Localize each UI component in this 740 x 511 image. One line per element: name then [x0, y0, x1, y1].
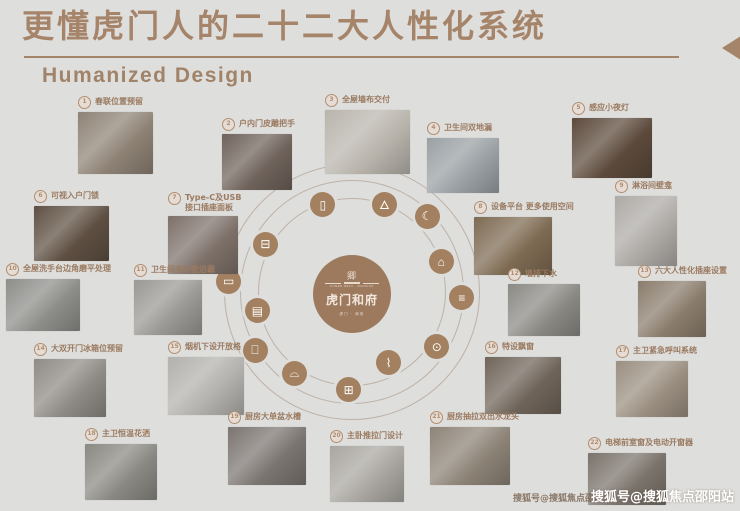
poster-header: 更懂虎门人的二十二大人性化系统 Humanized Design	[22, 6, 722, 46]
feature-number-badge: 1	[78, 96, 91, 109]
feature-number-badge: 9	[615, 180, 628, 193]
feature-photo	[615, 196, 677, 266]
feature-number-badge: 18	[85, 428, 98, 441]
feature-label: 9淋浴间壁龛	[615, 180, 677, 193]
feature-label-text: 可视入户门锁	[51, 190, 99, 201]
feature-label-text: 设备平台 更多使用空间	[491, 201, 574, 212]
feature-label: 20主卧推拉门设计	[330, 430, 404, 443]
feature-card[interactable]: 5感应小夜灯	[572, 102, 652, 178]
window-frame-icon[interactable]: ⊟	[253, 232, 278, 257]
feature-card[interactable]: 21厨房抽拉双出水龙头	[430, 411, 519, 485]
feature-card[interactable]: 1春联位置预留	[78, 96, 153, 174]
logo-crest: 卿	[347, 272, 357, 281]
feature-card[interactable]: 6可视入户门锁	[34, 190, 109, 261]
feature-label-text: 大双开门冰箱位预留	[51, 343, 123, 354]
feature-photo	[485, 357, 561, 414]
feature-label-text: 全屋洗手台边角磨平处理	[23, 263, 111, 274]
feature-photo	[616, 361, 688, 417]
feature-label-text: 卫生间多功能浴霸	[151, 264, 215, 275]
feature-label-text: 主卫恒温花洒	[102, 428, 150, 439]
feature-label-text: 特设飘窗	[502, 341, 534, 352]
feature-label-text: 厨房抽拉双出水龙头	[447, 411, 519, 422]
feature-photo	[508, 284, 580, 336]
feature-label-text: 淋浴间壁龛	[632, 180, 672, 191]
feature-card[interactable]: 13六大人性化插座设置	[638, 265, 727, 337]
feature-label: 13六大人性化插座设置	[638, 265, 727, 278]
feature-number-badge: 3	[325, 94, 338, 107]
feature-photo	[85, 444, 157, 500]
feature-label: 15烟机下设开放格	[168, 341, 244, 354]
feature-label: 21厨房抽拉双出水龙头	[430, 411, 519, 424]
feature-number-badge: 4	[427, 122, 440, 135]
feature-label-text: 卫生间双地漏	[444, 122, 492, 133]
feature-label: 12墙排下水	[508, 268, 580, 281]
feature-card[interactable]: 4卫生间双地漏	[427, 122, 499, 193]
logo-tagline: 虎门 · 和府	[340, 311, 365, 316]
feature-photo	[330, 446, 404, 502]
feature-card[interactable]: 11卫生间多功能浴霸	[134, 264, 215, 335]
feature-label: 4卫生间双地漏	[427, 122, 499, 135]
feature-label: 6可视入户门锁	[34, 190, 109, 203]
feature-label: 17主卫紧急呼叫系统	[616, 345, 697, 358]
feature-number-badge: 16	[485, 341, 498, 354]
logo-chinese: 虎门和府	[326, 291, 378, 308]
page-subtitle: Humanized Design	[42, 64, 254, 88]
feature-number-badge: 6	[34, 190, 47, 203]
feature-number-badge: 19	[228, 411, 241, 424]
feature-photo	[474, 217, 552, 275]
arrow-left-icon	[722, 34, 740, 62]
feature-card[interactable]: 17主卫紧急呼叫系统	[616, 345, 697, 417]
feature-photo	[325, 110, 410, 174]
watermark-main: 搜狐号@搜狐焦点邵阳站	[591, 486, 734, 505]
feature-number-badge: 14	[34, 343, 47, 356]
feature-photo	[34, 206, 109, 261]
feature-photo	[6, 279, 80, 331]
feature-photo	[572, 118, 652, 178]
feature-card[interactable]: 18主卫恒温花洒	[85, 428, 157, 500]
feature-label: 10全屋洗手台边角磨平处理	[6, 263, 111, 276]
feature-card[interactable]: 14大双开门冰箱位预留	[34, 343, 123, 417]
feature-label: 5感应小夜灯	[572, 102, 652, 115]
feature-card[interactable]: 19厨房大单盆水槽	[228, 411, 306, 485]
feature-number-badge: 7	[168, 192, 181, 205]
feature-label-text: Type-C及USB 接口插座面板	[185, 192, 241, 213]
shower-head-icon[interactable]: ⌂	[429, 249, 454, 274]
feature-number-badge: 20	[330, 430, 343, 443]
feature-label: 18主卫恒温花洒	[85, 428, 157, 441]
page-title: 更懂虎门人的二十二大人性化系统	[22, 6, 722, 46]
feature-photo	[638, 281, 706, 337]
feature-card[interactable]: 15烟机下设开放格	[168, 341, 244, 415]
feature-number-badge: 17	[616, 345, 629, 358]
logo-rule	[325, 282, 379, 284]
feature-label: 8设备平台 更多使用空间	[474, 201, 574, 214]
feature-label: 19厨房大单盆水槽	[228, 411, 306, 424]
feature-number-badge: 10	[6, 263, 19, 276]
feature-label-text: 电梯前室窗及电动开窗器	[605, 437, 693, 448]
feature-label-text: 主卧推拉门设计	[347, 430, 403, 441]
feature-number-badge: 12	[508, 268, 521, 281]
feature-card[interactable]: 9淋浴间壁龛	[615, 180, 677, 266]
feature-number-badge: 2	[222, 118, 235, 131]
feature-photo	[78, 112, 153, 174]
feature-number-badge: 13	[638, 265, 651, 278]
feature-label-text: 六大人性化插座设置	[655, 265, 727, 276]
feature-card[interactable]: 20主卧推拉门设计	[330, 430, 404, 502]
feature-label-text: 主卫紧急呼叫系统	[633, 345, 697, 356]
sink-basin-icon[interactable]: ⌓	[282, 361, 307, 386]
feature-label-text: 厨房大单盆水槽	[245, 411, 301, 422]
feature-card[interactable]: 3全屋墙布交付	[325, 94, 410, 174]
feature-photo	[430, 427, 510, 485]
feature-number-badge: 22	[588, 437, 601, 450]
feature-card[interactable]: 10全屋洗手台边角磨平处理	[6, 263, 111, 331]
feature-label: 1春联位置预留	[78, 96, 153, 109]
feature-photo	[168, 357, 244, 415]
feature-label: 2户内门皮雕把手	[222, 118, 295, 131]
logo-english: HUMEN HEFU · MANSION	[330, 285, 374, 288]
feature-label: 3全屋墙布交付	[325, 94, 410, 107]
feature-label-text: 感应小夜灯	[589, 102, 629, 113]
night-light-moon-icon[interactable]: ☾	[415, 204, 440, 229]
poster-canvas: 更懂虎门人的二十二大人性化系统 Humanized Design 卿 HUMEN…	[0, 0, 740, 511]
feature-card[interactable]: 7Type-C及USB 接口插座面板	[168, 192, 241, 274]
feature-label: 16特设飘窗	[485, 341, 561, 354]
header-divider	[24, 56, 679, 58]
feature-photo	[222, 134, 292, 190]
feature-photo	[34, 359, 106, 417]
feature-label-text: 墙排下水	[525, 268, 557, 279]
feature-number-badge: 21	[430, 411, 443, 424]
feature-photo	[134, 280, 202, 335]
center-logo: 卿 HUMEN HEFU · MANSION 虎门和府 虎门 · 和府	[313, 255, 391, 333]
feature-number-badge: 5	[572, 102, 585, 115]
feature-card[interactable]: 12墙排下水	[508, 268, 580, 336]
feature-card[interactable]: 2户内门皮雕把手	[222, 118, 295, 190]
feature-label-text: 全屋墙布交付	[342, 94, 390, 105]
feature-label: 7Type-C及USB 接口插座面板	[168, 192, 241, 213]
feature-photo	[228, 427, 306, 485]
feature-label-text: 烟机下设开放格	[185, 341, 241, 352]
water-heater-icon[interactable]: ⎕	[243, 338, 268, 363]
feature-number-badge: 8	[474, 201, 487, 214]
feature-label: 11卫生间多功能浴霸	[134, 264, 215, 277]
feature-photo	[427, 138, 499, 193]
feature-number-badge: 15	[168, 341, 181, 354]
feature-label: 14大双开门冰箱位预留	[34, 343, 123, 356]
mirror-cabinet-icon[interactable]: ▤	[245, 298, 270, 323]
feature-card[interactable]: 16特设飘窗	[485, 341, 561, 414]
feature-label-text: 春联位置预留	[95, 96, 143, 107]
feature-card[interactable]: 8设备平台 更多使用空间	[474, 201, 574, 275]
feature-label: 22电梯前室窗及电动开窗器	[588, 437, 693, 450]
feature-number-badge: 11	[134, 264, 147, 277]
feature-label-text: 户内门皮雕把手	[239, 118, 295, 129]
